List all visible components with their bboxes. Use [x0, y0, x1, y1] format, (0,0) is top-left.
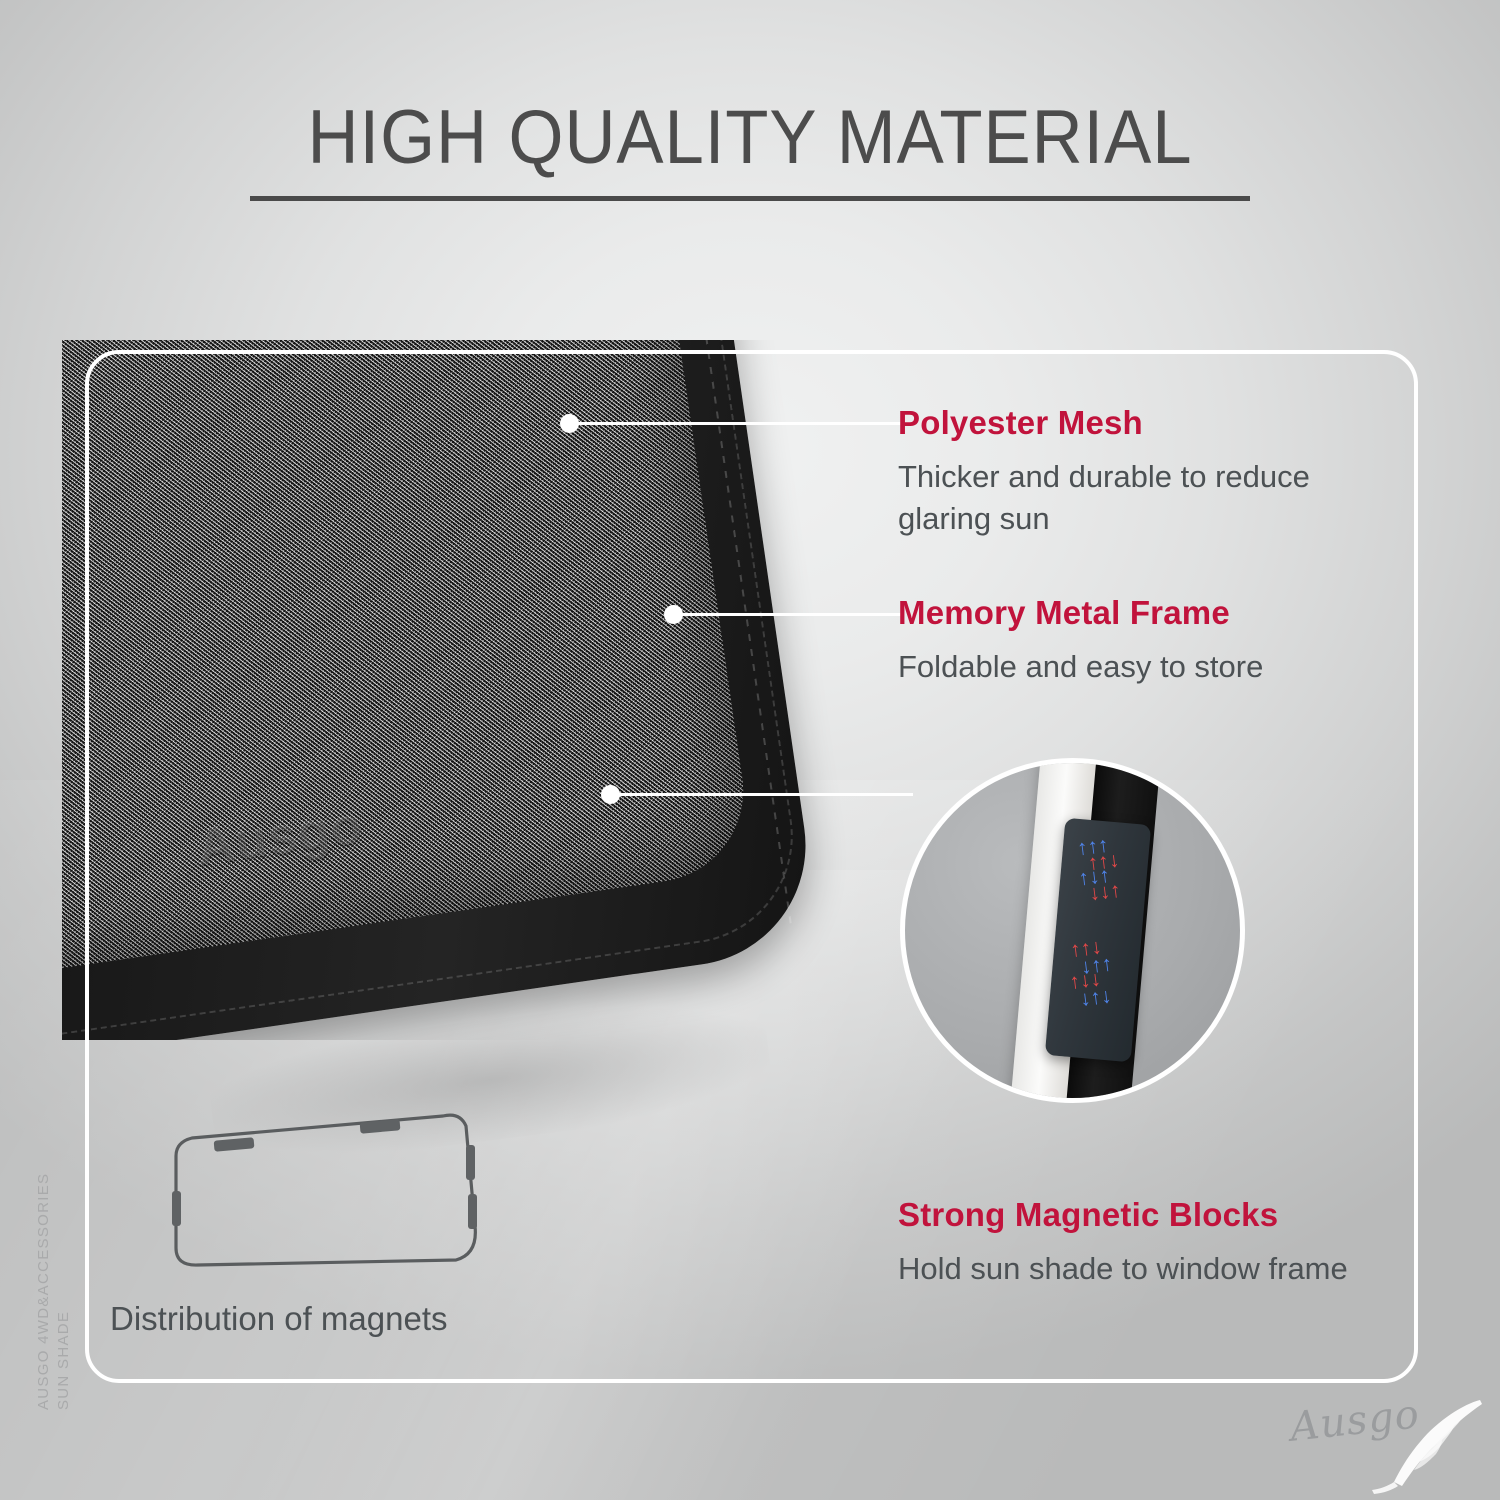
callout-body: Thicker and durable to reduce glaring su…: [898, 456, 1398, 540]
side-label-line1: AUSGO 4WD&ACCESSORIES: [34, 1110, 54, 1410]
leader-line-memory-metal-frame: [676, 613, 902, 616]
product-photo: [62, 340, 862, 1040]
magnet-distribution-svg: [168, 1108, 528, 1293]
callout-polyester-mesh: Polyester Mesh Thicker and durable to re…: [898, 404, 1398, 540]
callout-heading: Polyester Mesh: [898, 404, 1398, 442]
magnet-distribution-diagram: [168, 1108, 528, 1293]
callout-heading: Memory Metal Frame: [898, 594, 1398, 632]
title-divider: [250, 196, 1250, 201]
magnet-segment: [468, 1194, 477, 1229]
magnifier-detail-circle: ↑↑↑ ↑↑↓ ↑↓↑ ↓↓↑ ↑↑↓ ↓↑↑ ↑↓↓ ↓↑↓: [900, 758, 1245, 1103]
infographic-canvas: HIGH QUALITY MATERIAL Ausgo Polyester Me…: [0, 0, 1500, 1500]
side-vertical-label: AUSGO 4WD&ACCESSORIES SUN SHADE: [34, 1110, 74, 1410]
callout-memory-metal-frame: Memory Metal Frame Foldable and easy to …: [898, 594, 1398, 688]
polarity-arrow-icon: ↓↓↑: [1088, 882, 1121, 903]
callout-body: Foldable and easy to store: [898, 646, 1398, 688]
callout-body: Hold sun shade to window frame: [898, 1248, 1398, 1290]
callout-strong-magnetic-blocks: Strong Magnetic Blocks Hold sun shade to…: [898, 1196, 1398, 1290]
magnet-segment: [466, 1145, 475, 1180]
callout-heading: Strong Magnetic Blocks: [898, 1196, 1398, 1234]
magnet-segment: [172, 1191, 181, 1226]
brand-logo: Ausgo: [1290, 1392, 1490, 1500]
shade-outline: [176, 1115, 475, 1265]
leader-line-magnetic-blocks: [613, 793, 913, 796]
product-mesh-panel: [62, 340, 882, 1040]
magnet-segment: [214, 1137, 255, 1151]
magnet-diagram-caption: Distribution of magnets: [110, 1300, 630, 1338]
leader-line-polyester-mesh: [572, 422, 902, 425]
side-label-line2: SUN SHADE: [54, 1110, 74, 1410]
feather-icon: [1368, 1394, 1488, 1498]
page-title: HIGH QUALITY MATERIAL: [53, 96, 1448, 180]
polarity-arrow-icon: ↓↑↓: [1079, 987, 1112, 1008]
